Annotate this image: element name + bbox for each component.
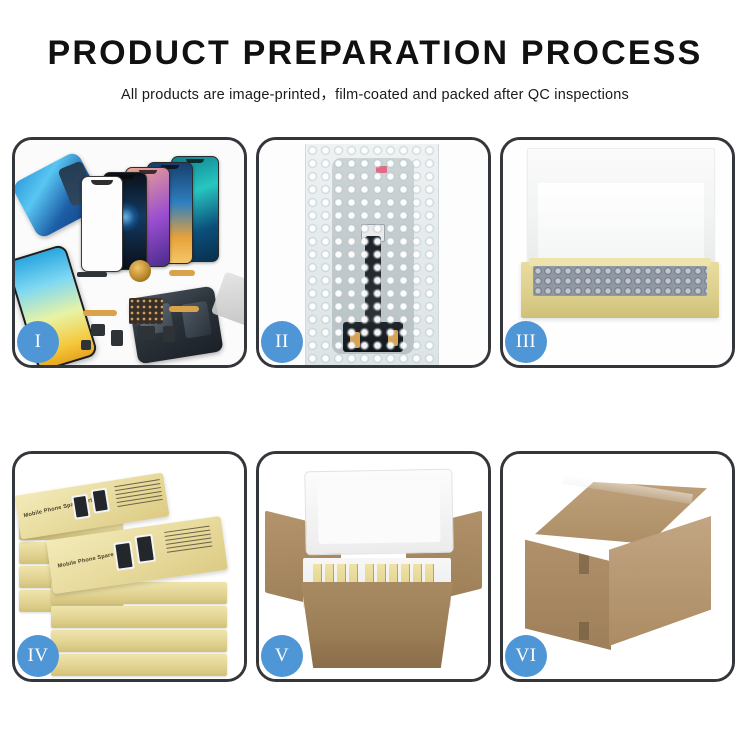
part-button-cable: [111, 330, 123, 346]
step-panel-3[interactable]: III: [500, 137, 735, 368]
step-4-image: Mobile Phone Spare Parts Mobile: [15, 454, 244, 679]
step-6-image: VI: [503, 454, 732, 679]
phone-front-glass: [81, 176, 123, 272]
step-1-image: I: [15, 140, 244, 365]
part-flex-cable-2: [83, 310, 117, 316]
part-flex-cable-1: [169, 270, 195, 276]
bubble-wrap-bag: [305, 144, 439, 365]
step-panel-4[interactable]: Mobile Phone Spare Parts Mobile: [12, 451, 247, 682]
white-foam-lid: [527, 148, 715, 270]
step-badge-5: V: [261, 635, 303, 677]
step-numeral-4: IV: [27, 645, 48, 667]
step-panel-2[interactable]: II: [256, 137, 491, 368]
step-numeral-6: VI: [515, 645, 536, 667]
yellow-inner-box: [521, 262, 719, 318]
lid-spec-lines: [114, 479, 164, 512]
step-badge-2: II: [261, 321, 303, 363]
step-badge-4: IV: [17, 635, 59, 677]
foam-lid: [304, 469, 453, 556]
bubble-texture: [306, 144, 438, 365]
step-numeral-2: II: [275, 331, 289, 353]
box-contents-bubble: [533, 266, 707, 296]
part-battery-connector: [137, 326, 155, 340]
step-3-image: III: [503, 140, 732, 365]
carton-body: [301, 582, 453, 668]
part-speaker-strip: [77, 272, 107, 277]
lid-window-right: [90, 488, 110, 514]
lid-spec-lines: [164, 526, 213, 558]
step-2-image: II: [259, 140, 488, 365]
part-flex-cable-3: [169, 306, 199, 312]
part-ic-chip-array: [129, 298, 163, 324]
process-step-grid: I II: [12, 137, 738, 682]
phone-fan-group: [75, 154, 244, 264]
stacked-box: [51, 630, 227, 652]
step-numeral-3: III: [516, 331, 536, 353]
product-preparation-poster: PRODUCT PREPARATION PROCESS All products…: [0, 0, 750, 750]
step-panel-6[interactable]: VI: [500, 451, 735, 682]
page-subtitle: All products are image-printed，film-coat…: [0, 72, 750, 104]
step-numeral-1: I: [35, 331, 42, 353]
carton-seam-lower: [579, 622, 589, 640]
header: PRODUCT PREPARATION PROCESS All products…: [0, 0, 750, 104]
lid-window-right: [134, 534, 156, 564]
step-5-image: V: [259, 454, 488, 679]
part-sim-tray: [163, 326, 175, 342]
step-numeral-5: V: [275, 645, 289, 667]
step-badge-3: III: [505, 321, 547, 363]
lid-window-left: [113, 541, 135, 571]
step-badge-1: I: [17, 321, 59, 363]
page-title: PRODUCT PREPARATION PROCESS: [0, 0, 750, 72]
part-small-bracket: [81, 340, 91, 350]
step-panel-1[interactable]: I: [12, 137, 247, 368]
carton-seam-upper: [579, 552, 589, 574]
step-panel-5[interactable]: V: [256, 451, 491, 682]
repair-tool: [211, 271, 244, 328]
step-badge-6: VI: [505, 635, 547, 677]
stacked-box: [51, 654, 227, 676]
spare-parts-group: [77, 260, 237, 365]
part-camera-module: [91, 324, 105, 336]
part-vibration-motor: [129, 260, 151, 282]
stacked-box: [51, 606, 227, 628]
